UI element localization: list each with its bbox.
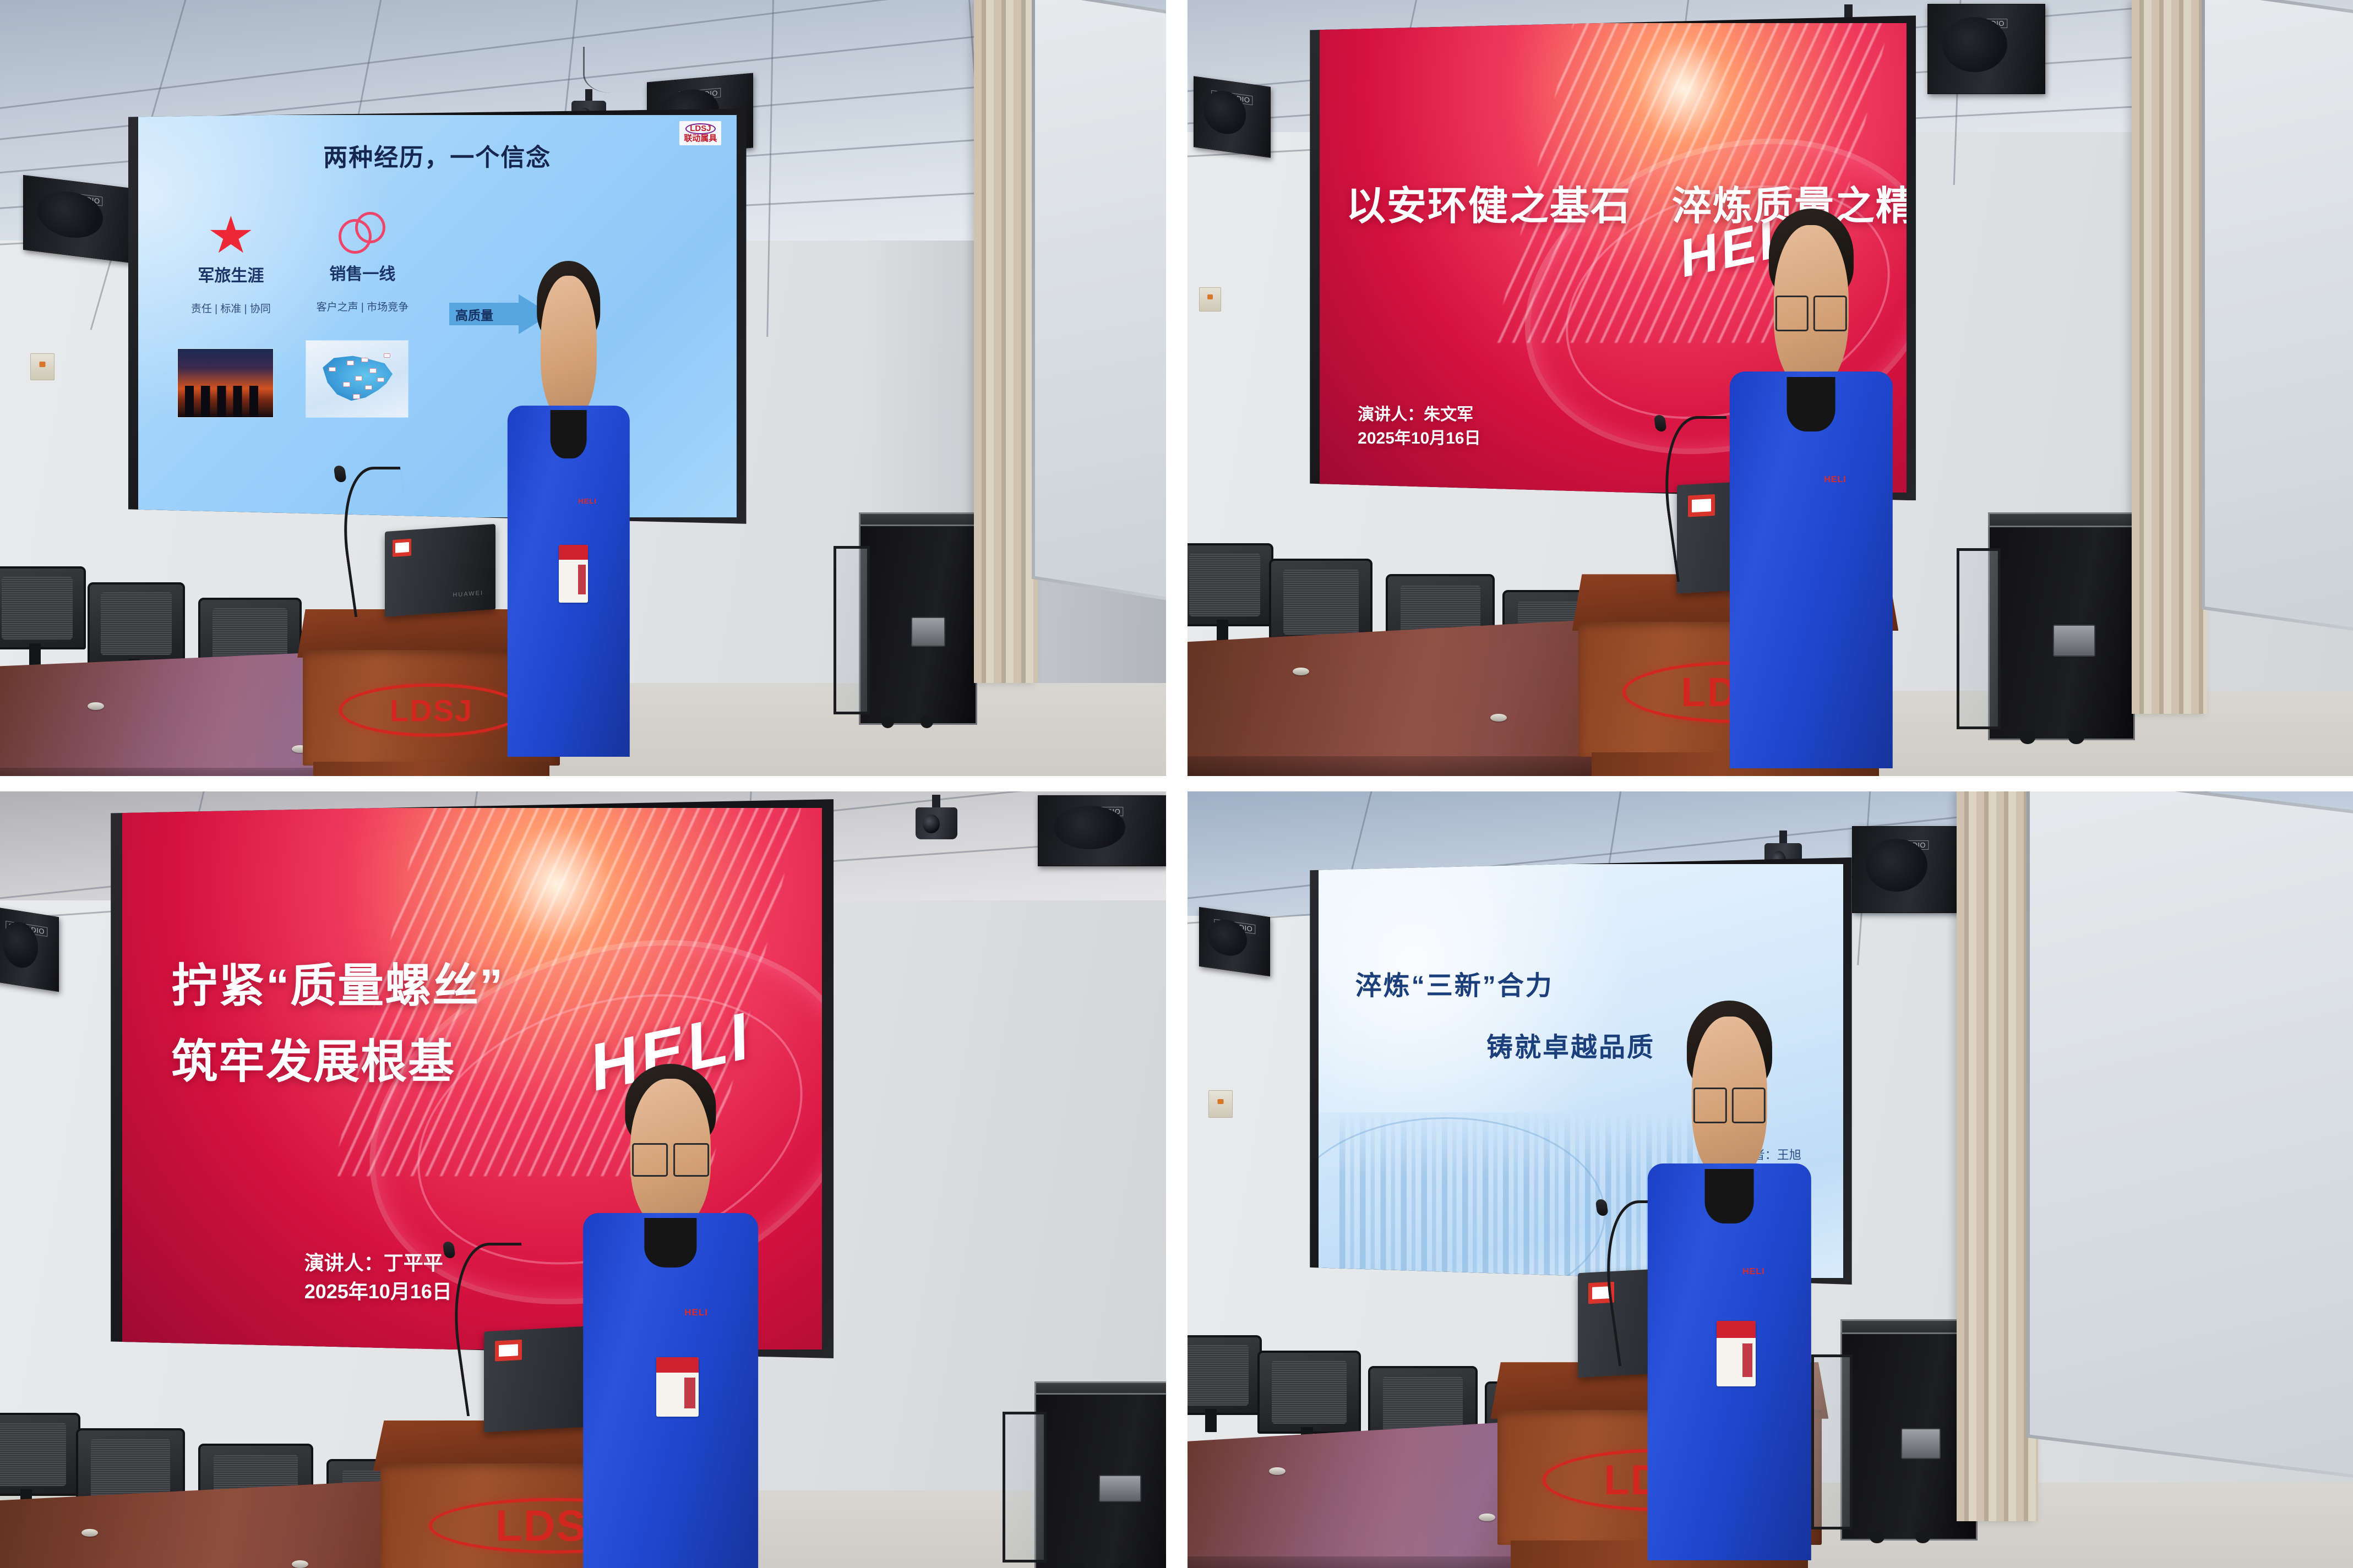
fire-alarm-panel [30, 353, 55, 381]
wall-speaker-right: SK AUDIO [1038, 795, 1166, 866]
speaker-brand-label: SK AUDIO [1965, 19, 2007, 28]
conference-room-top-left: SK AUDIO SK AUDIO 两种经历，一个信念 LDSJ [0, 0, 1166, 776]
podium-logo-text: LDSJ [339, 692, 524, 728]
red-star-icon [209, 216, 252, 256]
podium-logo: LDSJ [339, 684, 524, 737]
slide-canvas: 两种经历，一个信念 LDSJ 联动属具 军旅生涯 责任 | 标准 | 协同 [138, 115, 737, 517]
eyeglasses [1693, 1088, 1765, 1120]
column-caption: 销售一线 [303, 260, 422, 285]
window-frame [2202, 0, 2353, 632]
wall-speaker-left: SK AUDIO [1194, 76, 1271, 158]
cable-grommet [1293, 668, 1309, 675]
speaker-brand-label: SK AUDIO [62, 192, 103, 206]
uniform-logo: HELI [578, 497, 597, 505]
slide-column-2: 销售一线 客户之声 | 市场竞争 [303, 212, 422, 314]
wall-speaker-left: SK AUDIO [1199, 907, 1270, 976]
panel-top-right: SK AUDIO SK AUDIO HELI 以安环健之基石 淬炼质量之精品 演 [1188, 0, 2353, 776]
wall-switch-panel [1199, 287, 1221, 312]
cable-grommet [88, 702, 104, 710]
arrow-label: 高质量 [455, 305, 493, 324]
ldsj-logo-text: LDSJ [685, 123, 715, 134]
slide-title-line2: 铸就卓越品质 [1486, 1025, 1655, 1064]
cable-grommet [292, 1560, 308, 1568]
speech-bubbles-icon [339, 212, 386, 254]
wall-speaker-left: SK AUDIO [0, 906, 59, 992]
presentation-date: 2025年10月16日 [1358, 427, 1480, 451]
uniform-logo: HELI [684, 1307, 708, 1318]
cable-grommet [1269, 1467, 1286, 1475]
chair [0, 566, 81, 667]
presenter: HELI [1648, 1017, 1811, 1560]
slide-title: 两种经历，一个信念 [138, 138, 737, 173]
window-frame [2027, 791, 2353, 1480]
chair [1188, 1335, 1257, 1432]
gooseneck-microphone [344, 469, 408, 617]
window-frame [1032, 0, 1166, 601]
eyeglasses [632, 1143, 709, 1173]
panel-top-left: SK AUDIO SK AUDIO 两种经历，一个信念 LDSJ [0, 0, 1166, 776]
presenter: HELI [507, 276, 629, 757]
slide-corner-logo: LDSJ 联动属具 [679, 121, 721, 145]
wall-speaker-right: SK AUDIO [1927, 4, 2045, 94]
presenter-label: 演讲人：朱文军 [1358, 403, 1480, 427]
speaker-brand-label: SK AUDIO [679, 88, 721, 101]
speaker-brand-label: SK AUDIO [1082, 807, 1123, 816]
photo-collage: SK AUDIO SK AUDIO 两种经历，一个信念 LDSJ [0, 0, 2353, 1568]
conference-room-top-right: SK AUDIO SK AUDIO HELI 以安环健之基石 淬炼质量之精品 演 [1188, 0, 2353, 776]
id-badge [656, 1357, 698, 1417]
equipment-flight-case [1811, 1319, 1974, 1537]
gooseneck-microphone [455, 1245, 531, 1416]
slide-title-line2: 筑牢发展根基 [171, 1025, 455, 1091]
uniform-logo: HELI [1742, 1267, 1764, 1277]
speaker-brand-label: SK AUDIO [1887, 840, 1929, 850]
presenter-label: 演讲人：丁平平 [304, 1249, 452, 1277]
panel-bottom-right: SK AUDIO SK AUDIO 淬炼“三新”合力 铸就卓越品质 演讲者：王旭 [1188, 791, 2353, 1568]
ptz-camera [916, 795, 957, 840]
equipment-flight-case [1003, 1381, 1166, 1568]
column-caption: 军旅生涯 [177, 262, 285, 286]
gooseneck-microphone [1665, 419, 1735, 582]
panel-bottom-left: SK AUDIO SK AUDIO HELI 拧紧“质量螺丝” 筑牢发展根基 [0, 791, 1166, 1568]
slide-presenter: 演讲人：朱文军 2025年10月16日 [1358, 403, 1480, 451]
id-badge [559, 545, 588, 603]
column-subtext: 客户之声 | 市场竞争 [303, 299, 422, 314]
slide-presenter: 演讲人：丁平平 2025年10月16日 [304, 1249, 452, 1306]
speaker-brand-label: SK AUDIO [6, 921, 47, 937]
slide-title-line1: 拧紧“质量螺丝” [171, 949, 504, 1015]
led-display-screen: 两种经历，一个信念 LDSJ 联动属具 军旅生涯 责任 | 标准 | 协同 [128, 108, 747, 523]
ldsj-logo-sub: 联动属具 [684, 134, 717, 143]
china-distribution-map-photo [306, 340, 408, 418]
conference-room-bottom-right: SK AUDIO SK AUDIO 淬炼“三新”合力 铸就卓越品质 演讲者：王旭 [1188, 791, 2353, 1568]
window-curtain [2132, 0, 2208, 714]
slide-column-1: 军旅生涯 责任 | 标准 | 协同 [177, 216, 285, 315]
eyeglasses [1775, 296, 1847, 328]
presenter: HELI [1729, 225, 1892, 768]
id-badge [1717, 1321, 1756, 1386]
presentation-date: 2025年10月16日 [304, 1277, 452, 1306]
equipment-flight-case [834, 512, 973, 722]
laptop-brand-label: HUAWEI [453, 590, 483, 599]
conference-room-bottom-left: SK AUDIO SK AUDIO HELI 拧紧“质量螺丝” 筑牢发展根基 [0, 791, 1166, 1568]
speaker-brand-label: SK AUDIO [1211, 90, 1252, 106]
fire-alarm-panel [1208, 1090, 1233, 1118]
chair [1188, 543, 1269, 644]
uniform-logo: HELI [1824, 475, 1846, 485]
column-subtext: 责任 | 标准 | 协同 [177, 301, 285, 315]
speaker-brand-label: SK AUDIO [1214, 919, 1255, 934]
ceiling-cable [583, 47, 655, 94]
slide-title-line1: 淬炼“三新”合力 [1355, 964, 1554, 1002]
soldiers-at-sunset-photo [177, 348, 274, 418]
equipment-flight-case [1957, 512, 2132, 737]
presenter: HELI [583, 1079, 758, 1568]
window-curtain [974, 0, 1038, 683]
wall-speaker-left: SK AUDIO [23, 175, 141, 264]
wall-speaker-right: SK AUDIO [1852, 826, 1964, 913]
